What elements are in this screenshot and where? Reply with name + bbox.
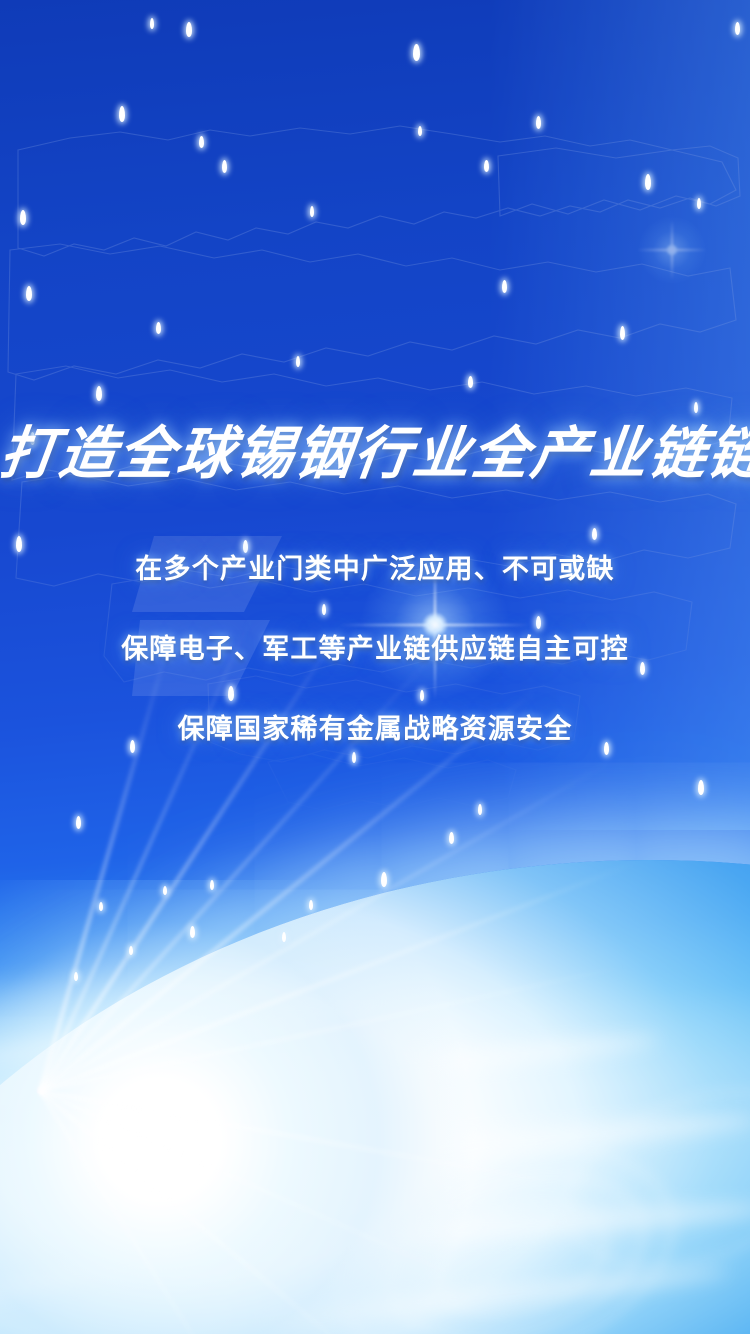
subtitle-line-2: 保障电子、军工等产业链供应链自主可控 bbox=[0, 632, 750, 666]
subtitle-line-3: 保障国家稀有金属战略资源安全 bbox=[0, 712, 750, 746]
page-title: 打造全球锡铟行业全产业链链主 bbox=[0, 416, 750, 494]
subtitle-list: 在多个产业门类中广泛应用、不可或缺 保障电子、军工等产业链供应链自主可控 保障国… bbox=[0, 552, 750, 792]
poster-canvas: 打造全球锡铟行业全产业链链主 在多个产业门类中广泛应用、不可或缺 保障电子、军工… bbox=[0, 0, 750, 1334]
earth-cloud-layer bbox=[0, 1000, 750, 1334]
subtitle-line-1: 在多个产业门类中广泛应用、不可或缺 bbox=[0, 552, 750, 586]
